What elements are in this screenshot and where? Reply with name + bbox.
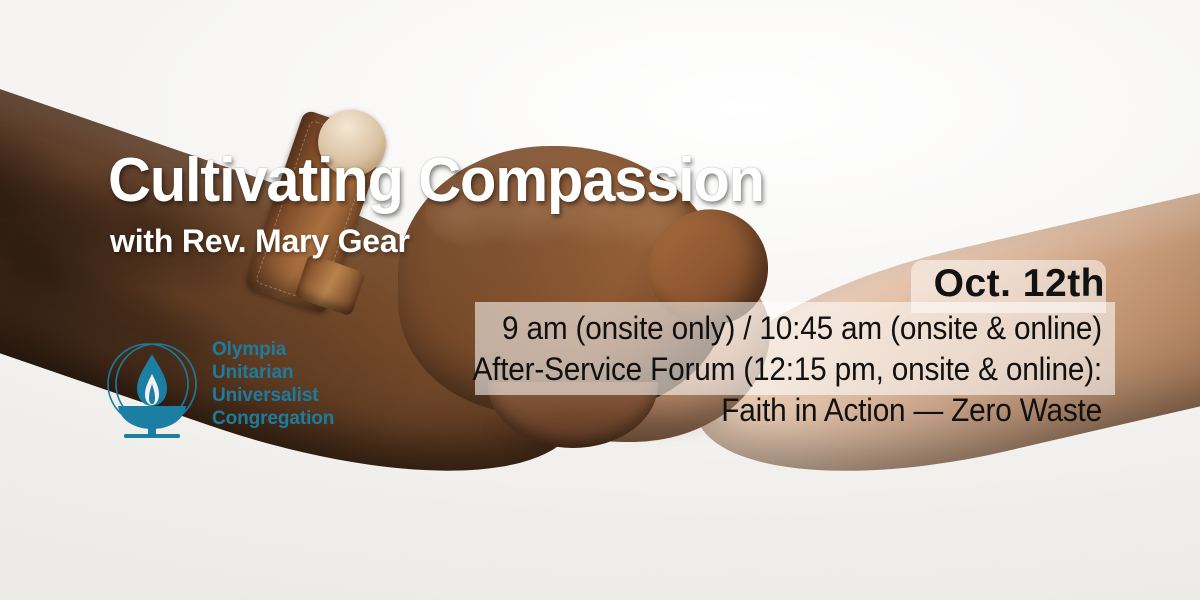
congregation-logo: Olympia Unitarian Universalist Congregat… <box>104 334 354 444</box>
logo-line-4: Congregation <box>212 407 334 430</box>
speaker-subtitle: with Rev. Mary Gear <box>110 225 410 257</box>
logo-line-1: Olympia <box>212 338 334 361</box>
page-title: Cultivating Compassion <box>108 150 764 212</box>
logo-line-2: Unitarian <box>212 361 334 384</box>
event-banner: Cultivating Compassion with Rev. Mary Ge… <box>0 0 1200 600</box>
flaming-chalice-icon <box>104 334 200 440</box>
logo-wordmark: Olympia Unitarian Universalist Congregat… <box>212 338 334 430</box>
event-date: Oct. 12th <box>0 264 1105 303</box>
logo-line-3: Universalist <box>212 384 334 407</box>
